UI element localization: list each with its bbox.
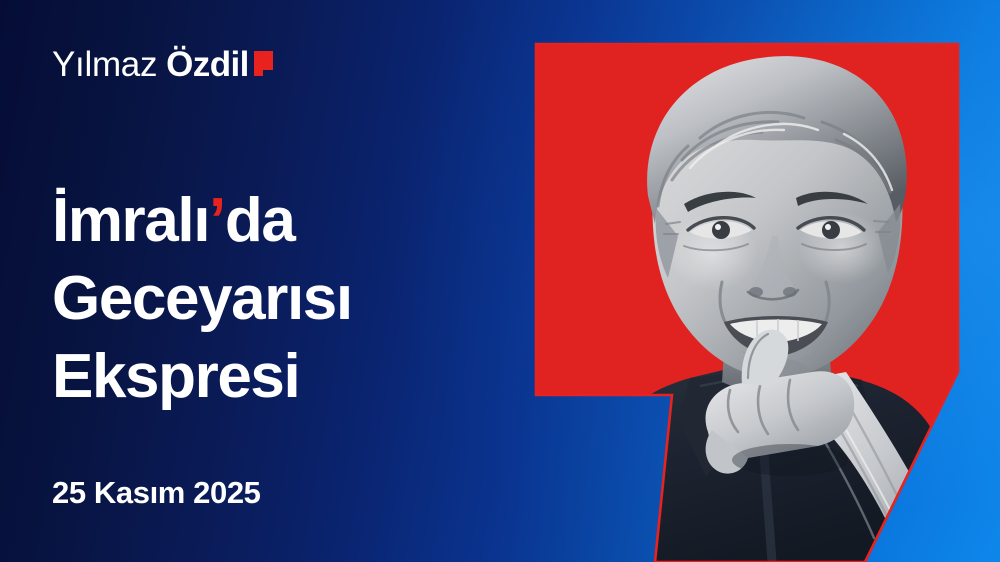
brand-last-name: Özdil [166, 45, 249, 85]
page-title: İmralı’da Geceyarısı Ekspresi [52, 182, 352, 416]
brand-first-name: Yılmaz [52, 45, 157, 85]
headline-line-1-suffix: da [225, 186, 295, 255]
red-quote-mark-icon [254, 51, 273, 76]
publish-date: 25 Kasım 2025 [52, 475, 261, 511]
headline-line-2: Geceyarısı [52, 260, 352, 338]
portrait-photo [536, 44, 958, 562]
brand-logo[interactable]: Yılmaz Özdil [52, 45, 273, 85]
article-cover-banner: Yılmaz Özdil İmralı’da Geceyarısı Ekspre… [0, 0, 1000, 562]
headline-apostrophe: ’ [209, 186, 225, 255]
headline-line-1-stem: İmralı [52, 186, 209, 255]
headline-line-1: İmralı’da [52, 182, 352, 260]
headline-line-3: Ekspresi [52, 338, 352, 416]
